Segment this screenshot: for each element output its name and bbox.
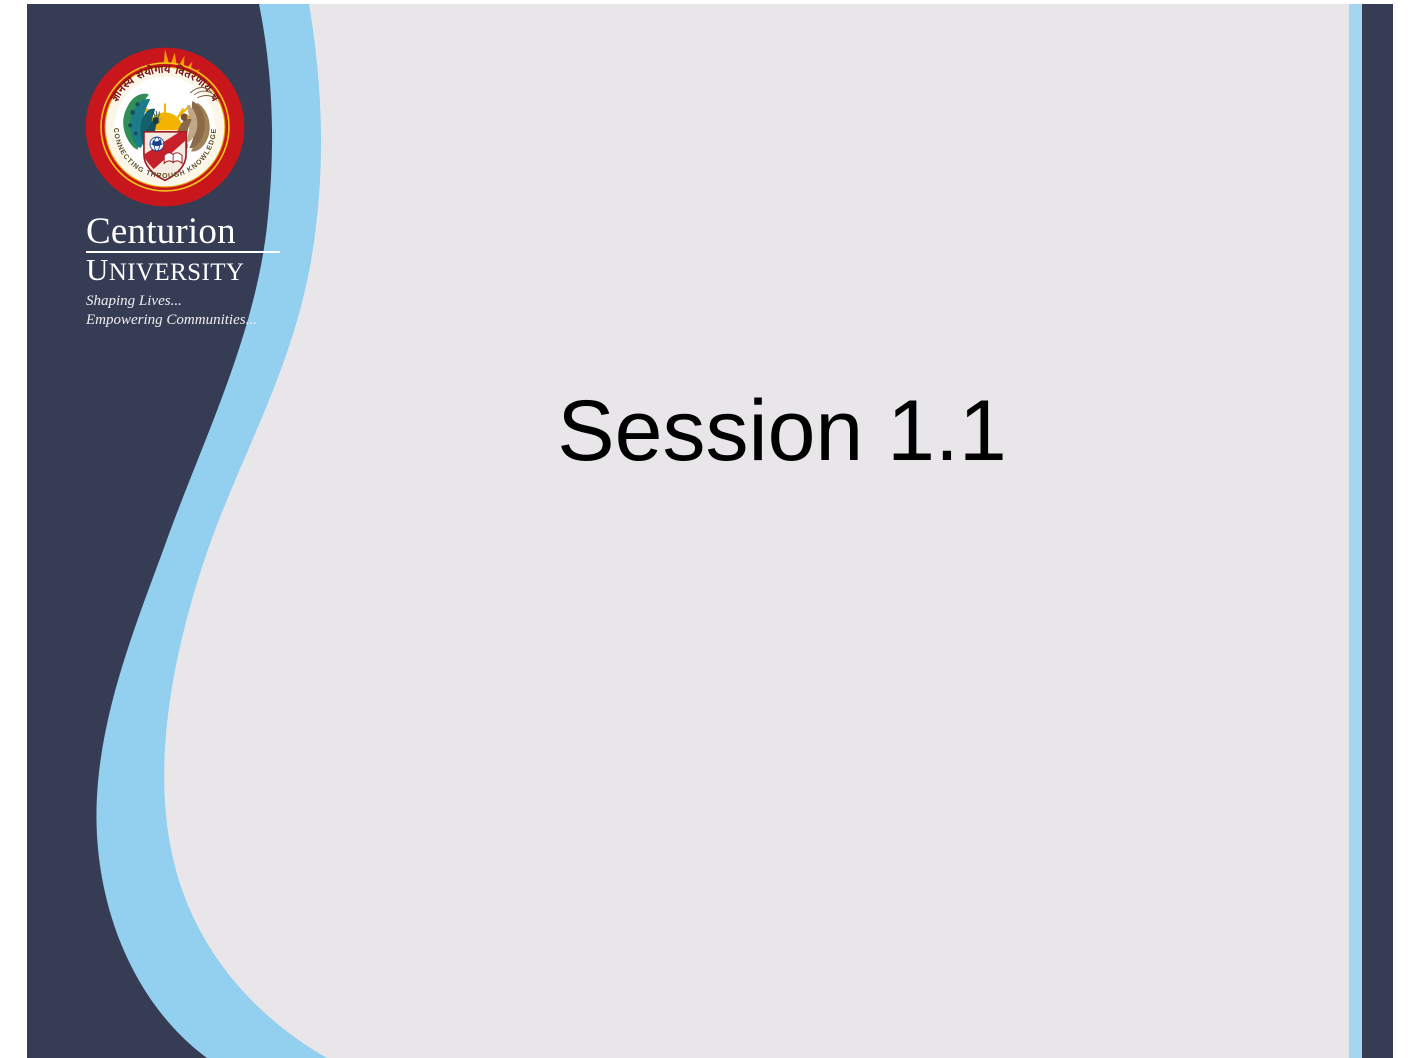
slide-body-region (307, 524, 1327, 944)
slide-canvas: ज्ञानस्य संयोगाय वितरणाय च (27, 4, 1393, 1058)
wordmark-university: UNIVERSITY (86, 254, 286, 286)
right-blue-strip (1349, 4, 1362, 1058)
tagline-line-2: Empowering Communities... (86, 311, 286, 330)
slide-root: ज्ञानस्य संयोगाय वितरणाय च (0, 0, 1411, 1058)
slide-title: Session 1.1 (547, 386, 1017, 476)
wordmark: Centurion UNIVERSITY Shaping Lives... Em… (86, 214, 286, 330)
centurion-university-emblem-icon: ज्ञानस्य संयोगाय वितरणाय च (84, 46, 246, 208)
wordmark-university-rest: NIVERSITY (109, 259, 245, 286)
tagline-line-1: Shaping Lives... (86, 292, 286, 311)
university-logo-block: ज्ञानस्य संयोगाय वितरणाय च (56, 46, 286, 330)
wordmark-university-cap: U (86, 252, 109, 287)
right-navy-band (1362, 4, 1393, 1058)
wordmark-centurion: Centurion (86, 214, 280, 253)
